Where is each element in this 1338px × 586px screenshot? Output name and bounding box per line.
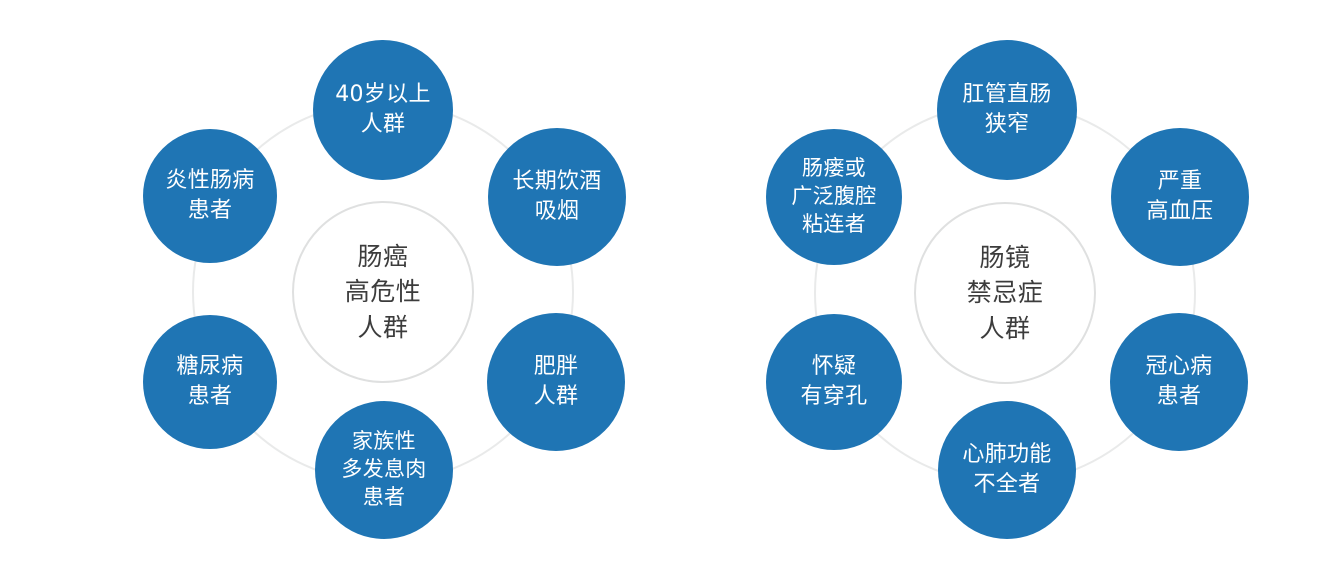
node-bubble[interactable]: 心肺功能 不全者 <box>938 401 1076 539</box>
node-label: 炎性肠病 患者 <box>165 166 254 227</box>
node-bubble[interactable]: 肥胖 人群 <box>487 313 625 451</box>
node-label: 40岁以上 人群 <box>335 80 431 141</box>
node-bubble[interactable]: 怀疑 有穿孔 <box>766 314 902 450</box>
node-label: 长期饮酒 吸烟 <box>512 167 601 228</box>
node-label: 糖尿病 患者 <box>177 352 244 413</box>
node-label: 严重 高血压 <box>1147 167 1214 228</box>
node-label: 冠心病 患者 <box>1146 352 1213 413</box>
node-label: 肠瘘或 广泛腹腔 粘连者 <box>791 155 876 239</box>
node-label: 肥胖 人群 <box>534 352 579 413</box>
node-bubble[interactable]: 40岁以上 人群 <box>313 40 453 180</box>
diagram-canvas: 肠癌 高危性 人群40岁以上 人群长期饮酒 吸烟肥胖 人群家族性 多发息肉 患者… <box>0 0 1338 586</box>
node-bubble[interactable]: 肠瘘或 广泛腹腔 粘连者 <box>766 129 902 265</box>
node-bubble[interactable]: 长期饮酒 吸烟 <box>488 128 626 266</box>
node-bubble[interactable]: 家族性 多发息肉 患者 <box>315 401 453 539</box>
node-bubble[interactable]: 糖尿病 患者 <box>143 315 277 449</box>
node-bubble[interactable]: 炎性肠病 患者 <box>143 129 277 263</box>
node-label: 怀疑 有穿孔 <box>801 352 868 413</box>
node-bubble[interactable]: 严重 高血压 <box>1111 128 1249 266</box>
hub-circle: 肠镜 禁忌症 人群 <box>914 202 1096 384</box>
hub-label: 肠镜 禁忌症 人群 <box>967 240 1044 347</box>
node-bubble[interactable]: 冠心病 患者 <box>1110 313 1248 451</box>
node-label: 心肺功能 不全者 <box>962 440 1051 501</box>
node-label: 肛管直肠 狭窄 <box>962 80 1051 141</box>
hub-circle: 肠癌 高危性 人群 <box>292 201 474 383</box>
hub-label: 肠癌 高危性 人群 <box>345 239 422 346</box>
node-bubble[interactable]: 肛管直肠 狭窄 <box>937 40 1077 180</box>
node-label: 家族性 多发息肉 患者 <box>341 428 426 512</box>
